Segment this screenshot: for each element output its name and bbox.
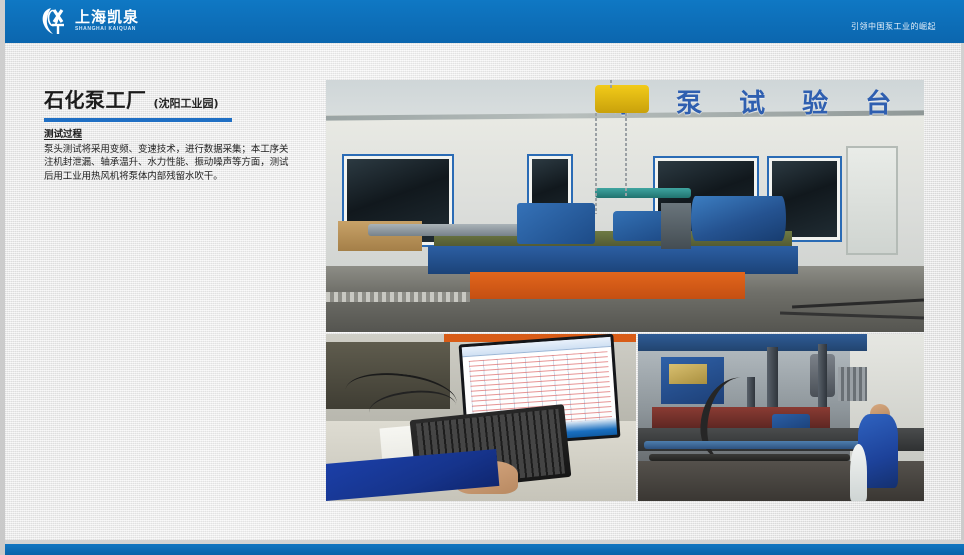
page-header: 上海凯泉 SHANGHAI KAIQUAN 引领中国泵工业的崛起 (5, 0, 964, 43)
description-block: 测试过程 泵头测试将采用变频、变速技术，进行数据采集；本工序关注机封泄漏、轴承温… (44, 126, 296, 183)
data-acquisition-workstation-photo (326, 334, 636, 501)
photo-orange-cabinet (470, 272, 745, 300)
kaiquan-logo-icon (38, 6, 70, 36)
photo-bench-base (428, 246, 799, 274)
left-edge-gutter (0, 0, 5, 555)
slide-root: 上海凯泉 SHANGHAI KAIQUAN 引领中国泵工业的崛起 石化泵工厂 (… (0, 0, 964, 555)
photo-door (846, 146, 898, 256)
photo-pump-body (517, 203, 595, 243)
brand-name-cn: 上海凯泉 (75, 10, 139, 25)
section-paragraph: 泵头测试将采用变频、变速技术，进行数据采集；本工序关注机封泄漏、轴承温升、水力性… (44, 143, 296, 183)
photo-wall-louvre (326, 292, 470, 302)
photo-electric-motor (691, 196, 787, 241)
title-underline-rule (44, 118, 232, 122)
page-subtitle: (沈阳工业园) (154, 95, 219, 111)
photo-valve (661, 203, 691, 248)
photo-chain-hoist-icon (595, 85, 649, 113)
section-heading: 测试过程 (44, 126, 296, 140)
page-footer (5, 544, 964, 555)
photo-black-pipeline (649, 454, 849, 461)
photo-cooler (838, 367, 867, 400)
photo-water-spray (850, 444, 867, 501)
photo-lifting-chain (595, 113, 597, 214)
photo-lifting-chain (610, 80, 612, 90)
header-slogan: 引领中国泵工业的崛起 (851, 21, 936, 32)
photo-blue-ceiling-beam (638, 334, 867, 351)
brand-logo[interactable]: 上海凯泉 SHANGHAI KAIQUAN (38, 5, 139, 37)
brand-name-en: SHANGHAI KAIQUAN (75, 27, 139, 32)
photo-blue-pipeline (644, 441, 873, 449)
page-title: 石化泵工厂 (44, 84, 147, 113)
pump-skid-testing-photo (638, 334, 924, 501)
photo-lifting-chain (625, 113, 627, 196)
photo-collage: 水 泵 试 验 台 (326, 80, 924, 501)
wall-sign-text: 水 泵 试 验 台 (613, 83, 918, 121)
pump-test-hall-photo: 水 泵 试 验 台 (326, 80, 924, 332)
page-title-block: 石化泵工厂 (沈阳工业园) (44, 84, 304, 122)
photo-yellow-cover (669, 364, 706, 384)
title-row: 石化泵工厂 (沈阳工业园) (44, 84, 304, 113)
photo-teal-elbow (595, 188, 691, 198)
brand-logo-text: 上海凯泉 SHANGHAI KAIQUAN (75, 10, 139, 32)
